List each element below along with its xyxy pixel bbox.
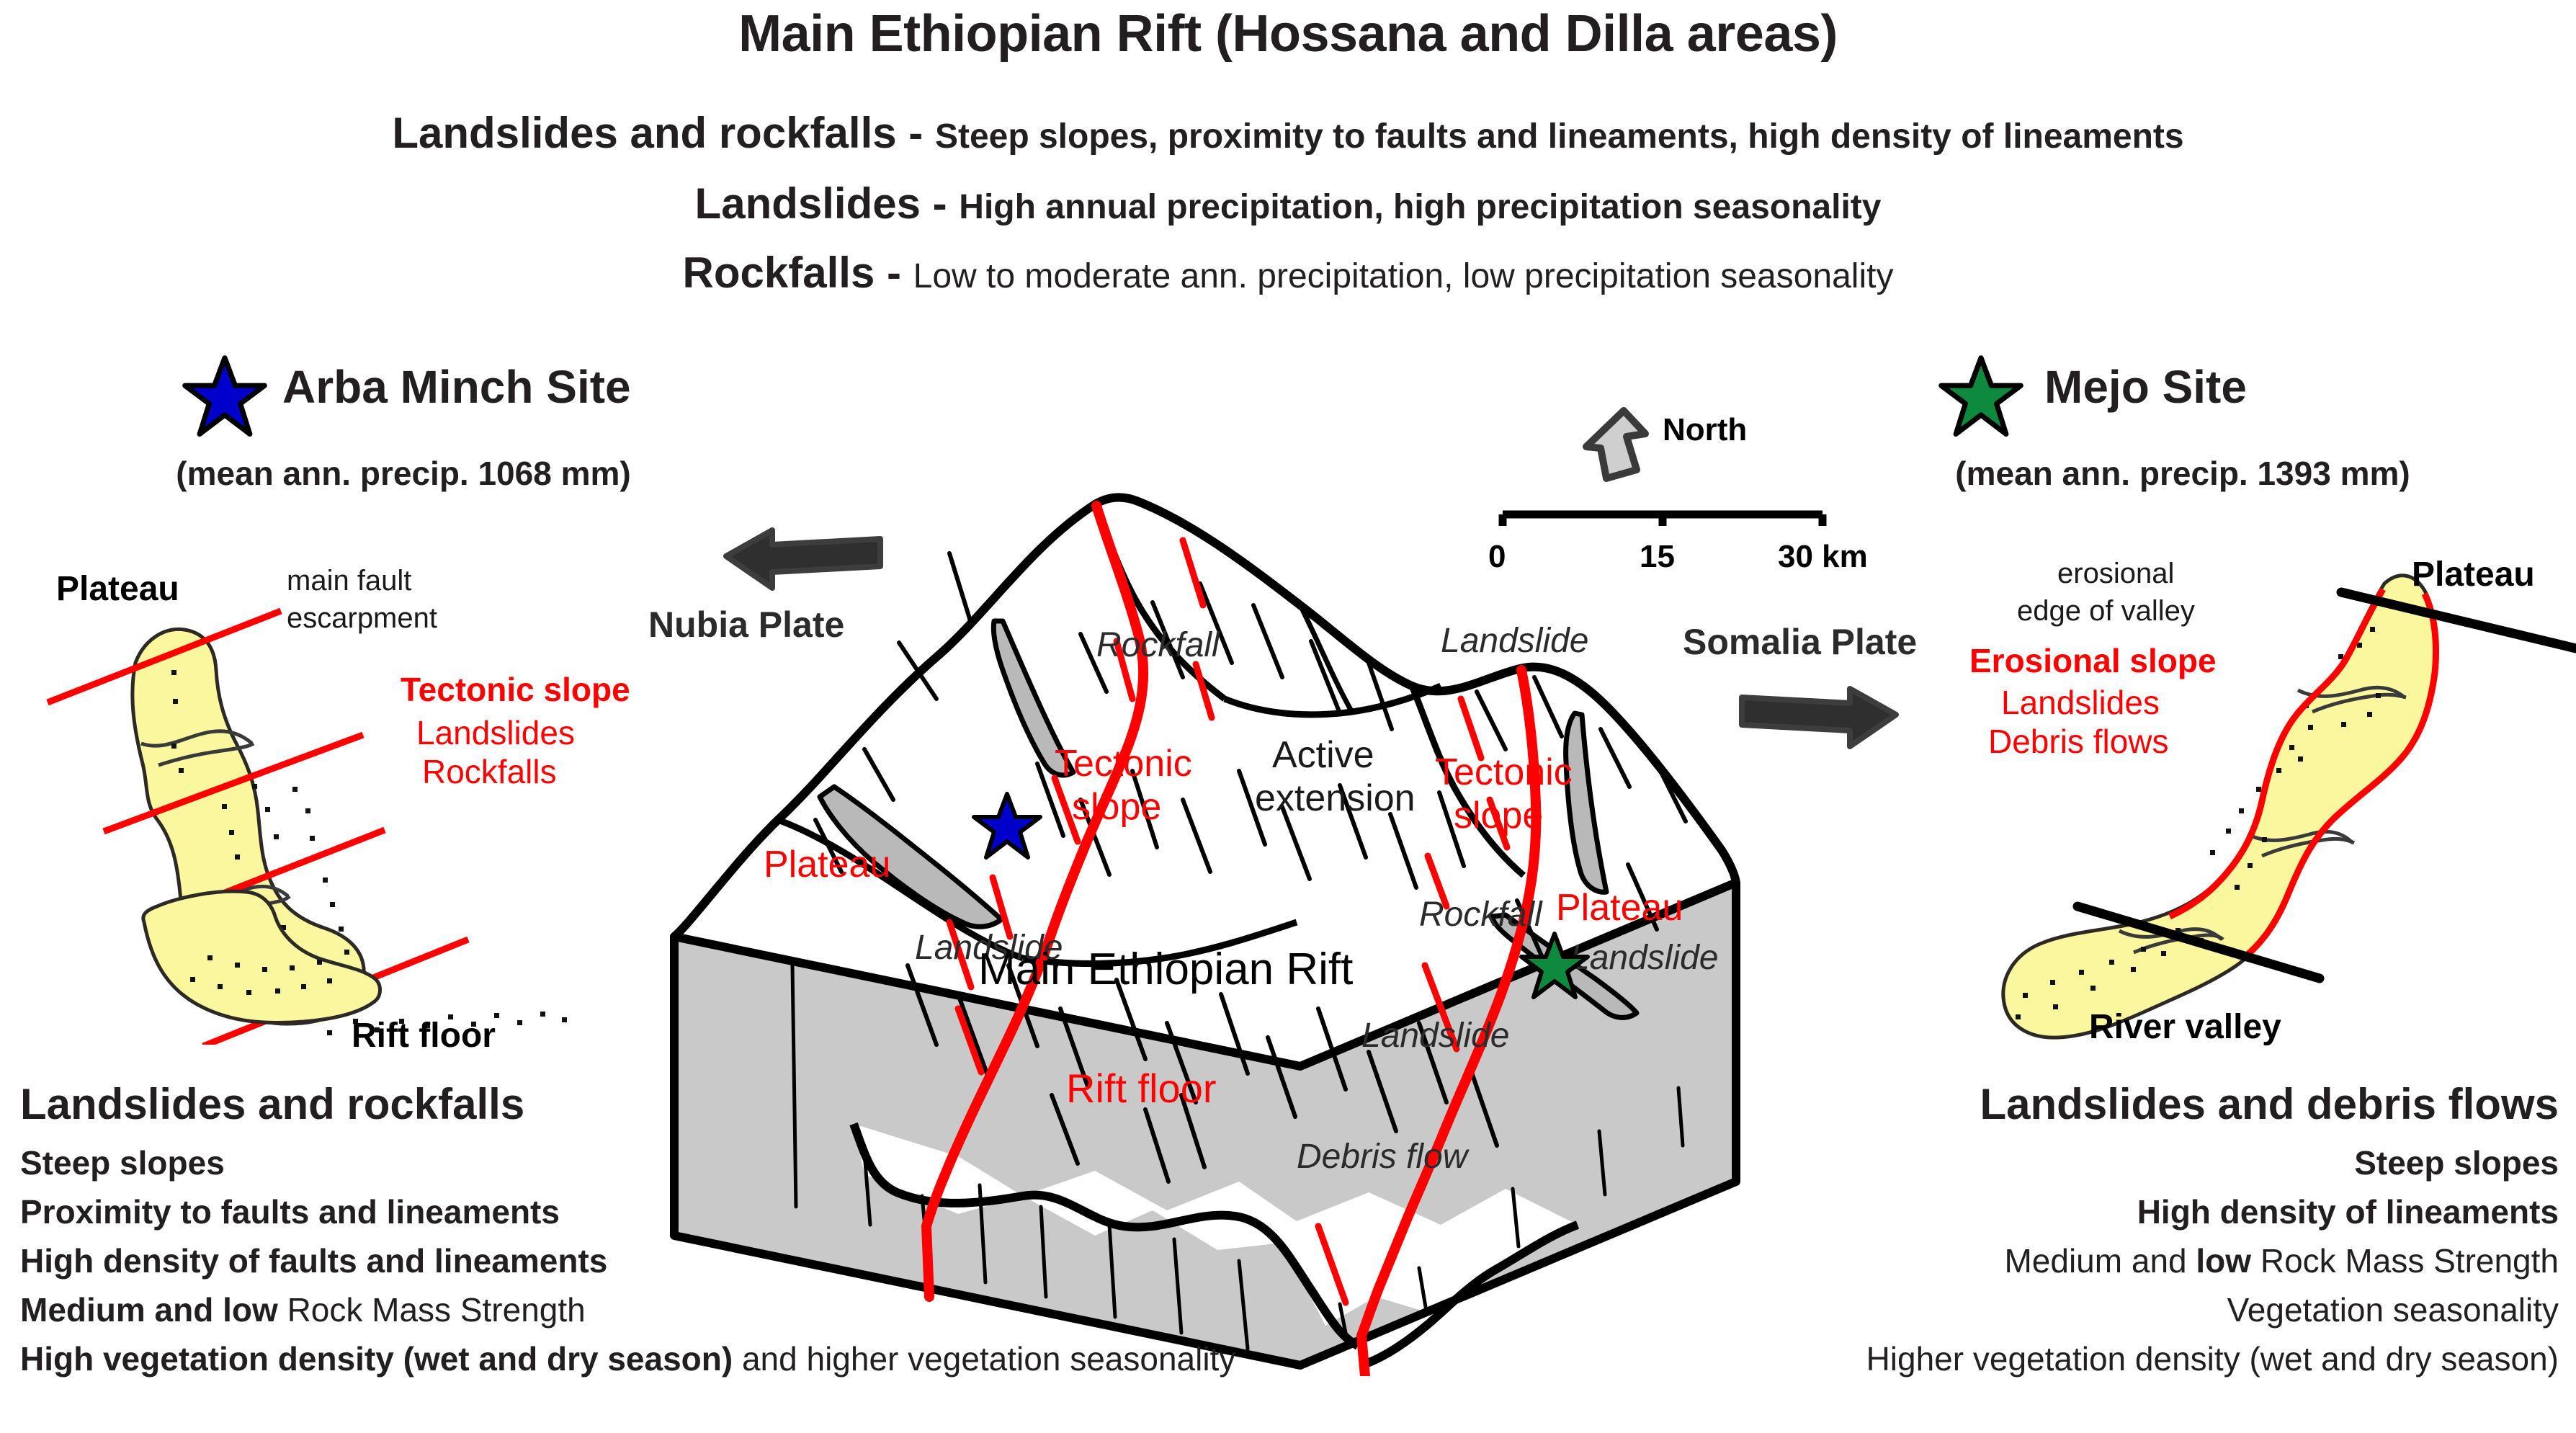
bottom-right-line-2-bold: low (2196, 1242, 2251, 1280)
summary-1-bold: Landslides and rockfalls - (392, 109, 935, 157)
block-rockfall-mid-label: Rockfall (1419, 895, 1542, 934)
left-inset-floor-label: Rift floor (352, 1016, 496, 1055)
bottom-right-line-3-pre: Vegetation seasonality (2227, 1291, 2559, 1329)
block-active-extension-line1: Active (1272, 733, 1374, 777)
bottom-right-line-4: Higher vegetation density (wet and dry s… (1622, 1339, 2559, 1378)
summary-line-2: Landslides - High annual precipitation, … (0, 179, 2576, 228)
right-inset-edge-note-line2: edge of valley (2017, 595, 2195, 628)
left-site-name: Arba Minch Site (282, 360, 631, 414)
summary-3-rest: Low to moderate ann. precipitation, low … (913, 257, 1894, 295)
summary-2-bold: Landslides - (695, 179, 960, 228)
block-landslide-right-lower-label: Landslide (1361, 1016, 1510, 1055)
bottom-right-line-4-pre: Higher vegetation density (wet and dry s… (1866, 1340, 2559, 1378)
nubia-plate-arrow-icon (720, 519, 886, 598)
right-inset-floor-label: River valley (2089, 1007, 2281, 1047)
right-inset-slope-title: Erosional slope (1969, 641, 2217, 680)
block-tectonic-slope-right-line2: slope (1454, 794, 1543, 837)
bottom-left-line-4: High vegetation density (wet and dry sea… (20, 1339, 957, 1378)
scalebar-tick-2: 30 km (1778, 539, 1868, 575)
bottom-left-line-4-bold: High vegetation density (wet and dry sea… (20, 1340, 733, 1378)
block-active-extension-line2: extension (1255, 777, 1416, 820)
right-inset-slope-item-1: Debris flows (1988, 722, 2169, 761)
right-inset-slope-item-0: Landslides (2001, 683, 2160, 722)
summary-1-rest: Steep slopes, proximity to faults and li… (935, 117, 2184, 156)
north-label: North (1663, 412, 1747, 448)
right-site-name: Mejo Site (2044, 360, 2247, 414)
bottom-left-line-2-bold: High density of faults and lineaments (20, 1242, 607, 1280)
summary-line-1: Landslides and rockfalls - Steep slopes,… (0, 108, 2576, 158)
bottom-left-line-0: Steep slopes (20, 1143, 957, 1182)
north-arrow-icon (1570, 403, 1664, 490)
left-inset-slope-title: Tectonic slope (401, 670, 630, 709)
bottom-right-line-2-pre: Medium and (2004, 1242, 2196, 1280)
blue-star-on-block (971, 791, 1043, 863)
scalebar-tick-0: 0 (1488, 539, 1506, 575)
block-rift-floor-label: Rift floor (1066, 1065, 1217, 1112)
left-inset-fault-note-line1: main fault (287, 565, 411, 597)
bottom-right-line-2: Medium and low Rock Mass Strength (1622, 1241, 2559, 1280)
summary-2-rest: High annual precipitation, high precipit… (959, 188, 1881, 226)
bottom-right-line-1-bold: High density of lineaments (2137, 1193, 2559, 1231)
nubia-plate-label: Nubia Plate (648, 604, 844, 646)
green-star (1938, 354, 2024, 441)
bottom-left-line-4-plain: and higher vegetation seasonality (733, 1340, 1235, 1378)
block-plateau-right-label: Plateau (1556, 886, 1683, 929)
bottom-right-line-1: High density of lineaments (1622, 1192, 2559, 1231)
block-plateau-left-label: Plateau (764, 843, 890, 886)
block-tectonic-slope-left-line1: Tectonic (1055, 742, 1192, 785)
bottom-left-title: Landslides and rockfalls (20, 1079, 957, 1129)
block-rockfall-top-label: Rockfall (1096, 625, 1220, 665)
right-inset-slope-profile (1938, 562, 2576, 1066)
scalebar-graphic (1498, 504, 1830, 540)
block-tectonic-slope-left-line2: slope (1072, 785, 1161, 829)
right-site-precip: (mean ann. precip. 1393 mm) (1801, 454, 2564, 493)
bottom-left-line-1-bold: Proximity to faults and lineaments (20, 1193, 560, 1231)
block-main-label: Main Ethiopian Rift (978, 944, 1353, 995)
bottom-right-line-0: Steep slopes (1622, 1143, 2559, 1182)
left-site-precip: (mean ann. precip. 1068 mm) (86, 454, 720, 493)
bottom-left-line-3-plain: Rock Mass Strength (287, 1291, 586, 1329)
bottom-left-line-0-bold: Steep slopes (20, 1144, 225, 1182)
bottom-left-line-3-bold: Medium and low (20, 1291, 287, 1329)
block-landslide-right-upper-label: Landslide (1570, 938, 1719, 978)
scalebar-tick-1: 15 (1640, 539, 1675, 575)
bottom-right-panel: Landslides and debris flows Steep slopes… (1622, 1079, 2559, 1378)
blue-star (182, 354, 268, 441)
block-debris-flow-label: Debris flow (1297, 1137, 1467, 1177)
bottom-right-line-2-post: Rock Mass Strength (2251, 1242, 2559, 1280)
bottom-right-title: Landslides and debris flows (1622, 1079, 2559, 1129)
left-inset-fault-note-line2: escarpment (287, 602, 437, 635)
right-inset-edge-note-line1: erosional (2057, 558, 2174, 590)
summary-3-bold: Rockfalls - (683, 249, 913, 297)
bottom-left-panel: Landslides and rockfalls Steep slopes Pr… (20, 1079, 957, 1378)
somalia-plate-label: Somalia Plate (1683, 621, 1917, 663)
bottom-right-line-0-bold: Steep slopes (2354, 1144, 2559, 1182)
somalia-plate-arrow-icon (1736, 677, 1902, 756)
right-inset-plateau-label: Plateau (2412, 555, 2535, 594)
left-inset-slope-item-0: Landslides (416, 713, 575, 752)
bottom-right-line-3: Vegetation seasonality (1622, 1290, 2559, 1329)
bottom-left-line-1: Proximity to faults and lineaments (20, 1192, 957, 1231)
left-inset-plateau-label: Plateau (56, 569, 179, 609)
summary-line-3: Rockfalls - Low to moderate ann. precipi… (0, 248, 2576, 298)
block-tectonic-slope-right-line1: Tectonic (1435, 751, 1573, 794)
bottom-left-line-2: High density of faults and lineaments (20, 1241, 957, 1280)
page-title: Main Ethiopian Rift (Hossana and Dilla a… (0, 4, 2576, 63)
bottom-left-line-3: Medium and low Rock Mass Strength (20, 1290, 957, 1329)
left-inset-slope-item-1: Rockfalls (422, 752, 557, 791)
block-landslide-top-right-label: Landslide (1441, 621, 1589, 661)
green-star-on-block (1519, 931, 1591, 1003)
